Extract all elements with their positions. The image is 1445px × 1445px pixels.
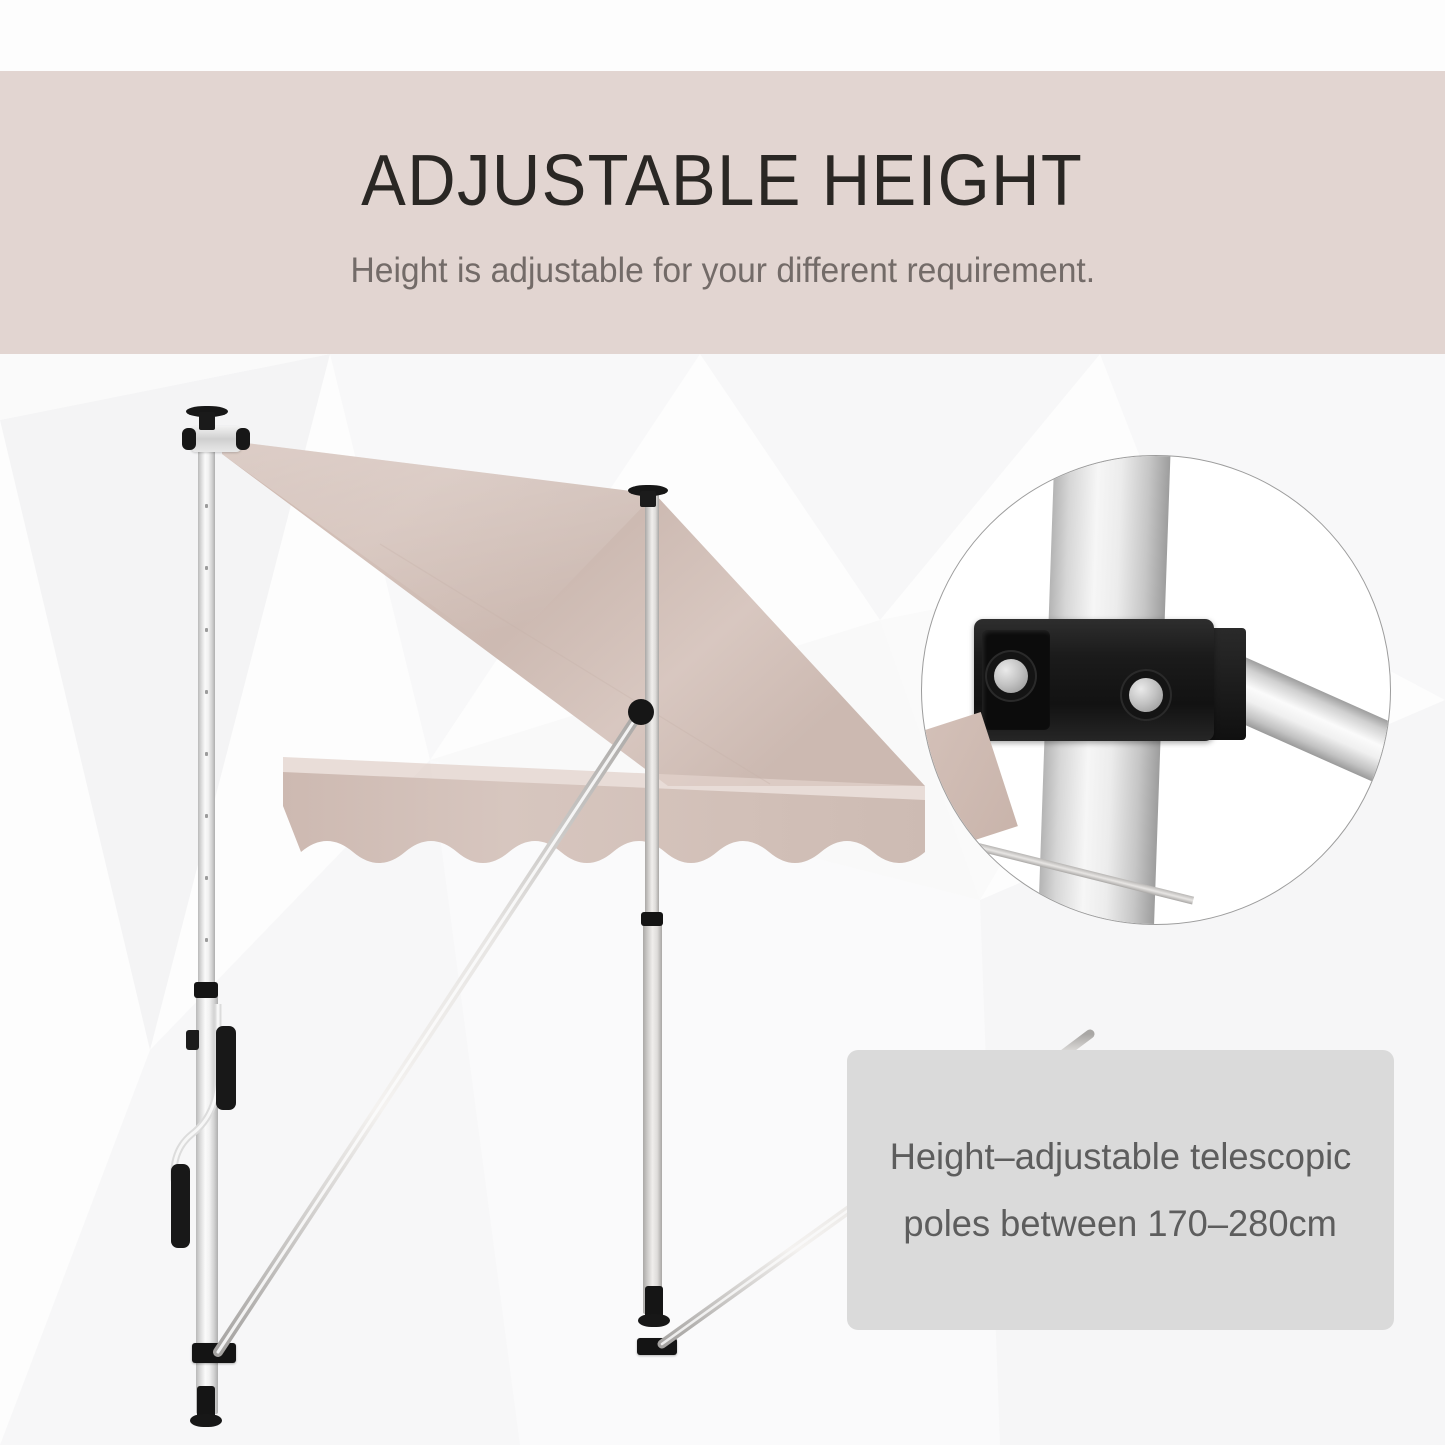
product-feature-graphic: ADJUSTABLE HEIGHT Height is adjustable f… (0, 0, 1445, 1445)
product-photo: Height–adjustable telescopic poles betwe… (0, 354, 1445, 1445)
page-title: ADJUSTABLE HEIGHT (362, 145, 1084, 217)
closeup-hex-bolt-2 (1129, 678, 1163, 712)
page-subtitle: Height is adjustable for your different … (350, 253, 1095, 288)
header-banner: ADJUSTABLE HEIGHT Height is adjustable f… (0, 71, 1445, 354)
feature-caption-box: Height–adjustable telescopic poles betwe… (847, 1050, 1394, 1330)
arm-ball-joint (628, 699, 654, 725)
caption-line-2: poles between 170–280cm (904, 1205, 1337, 1242)
closeup-hex-bolt-1 (994, 659, 1028, 693)
clamp-bracket-closeup (921, 455, 1391, 925)
caption-line-1: Height–adjustable telescopic (890, 1138, 1352, 1175)
